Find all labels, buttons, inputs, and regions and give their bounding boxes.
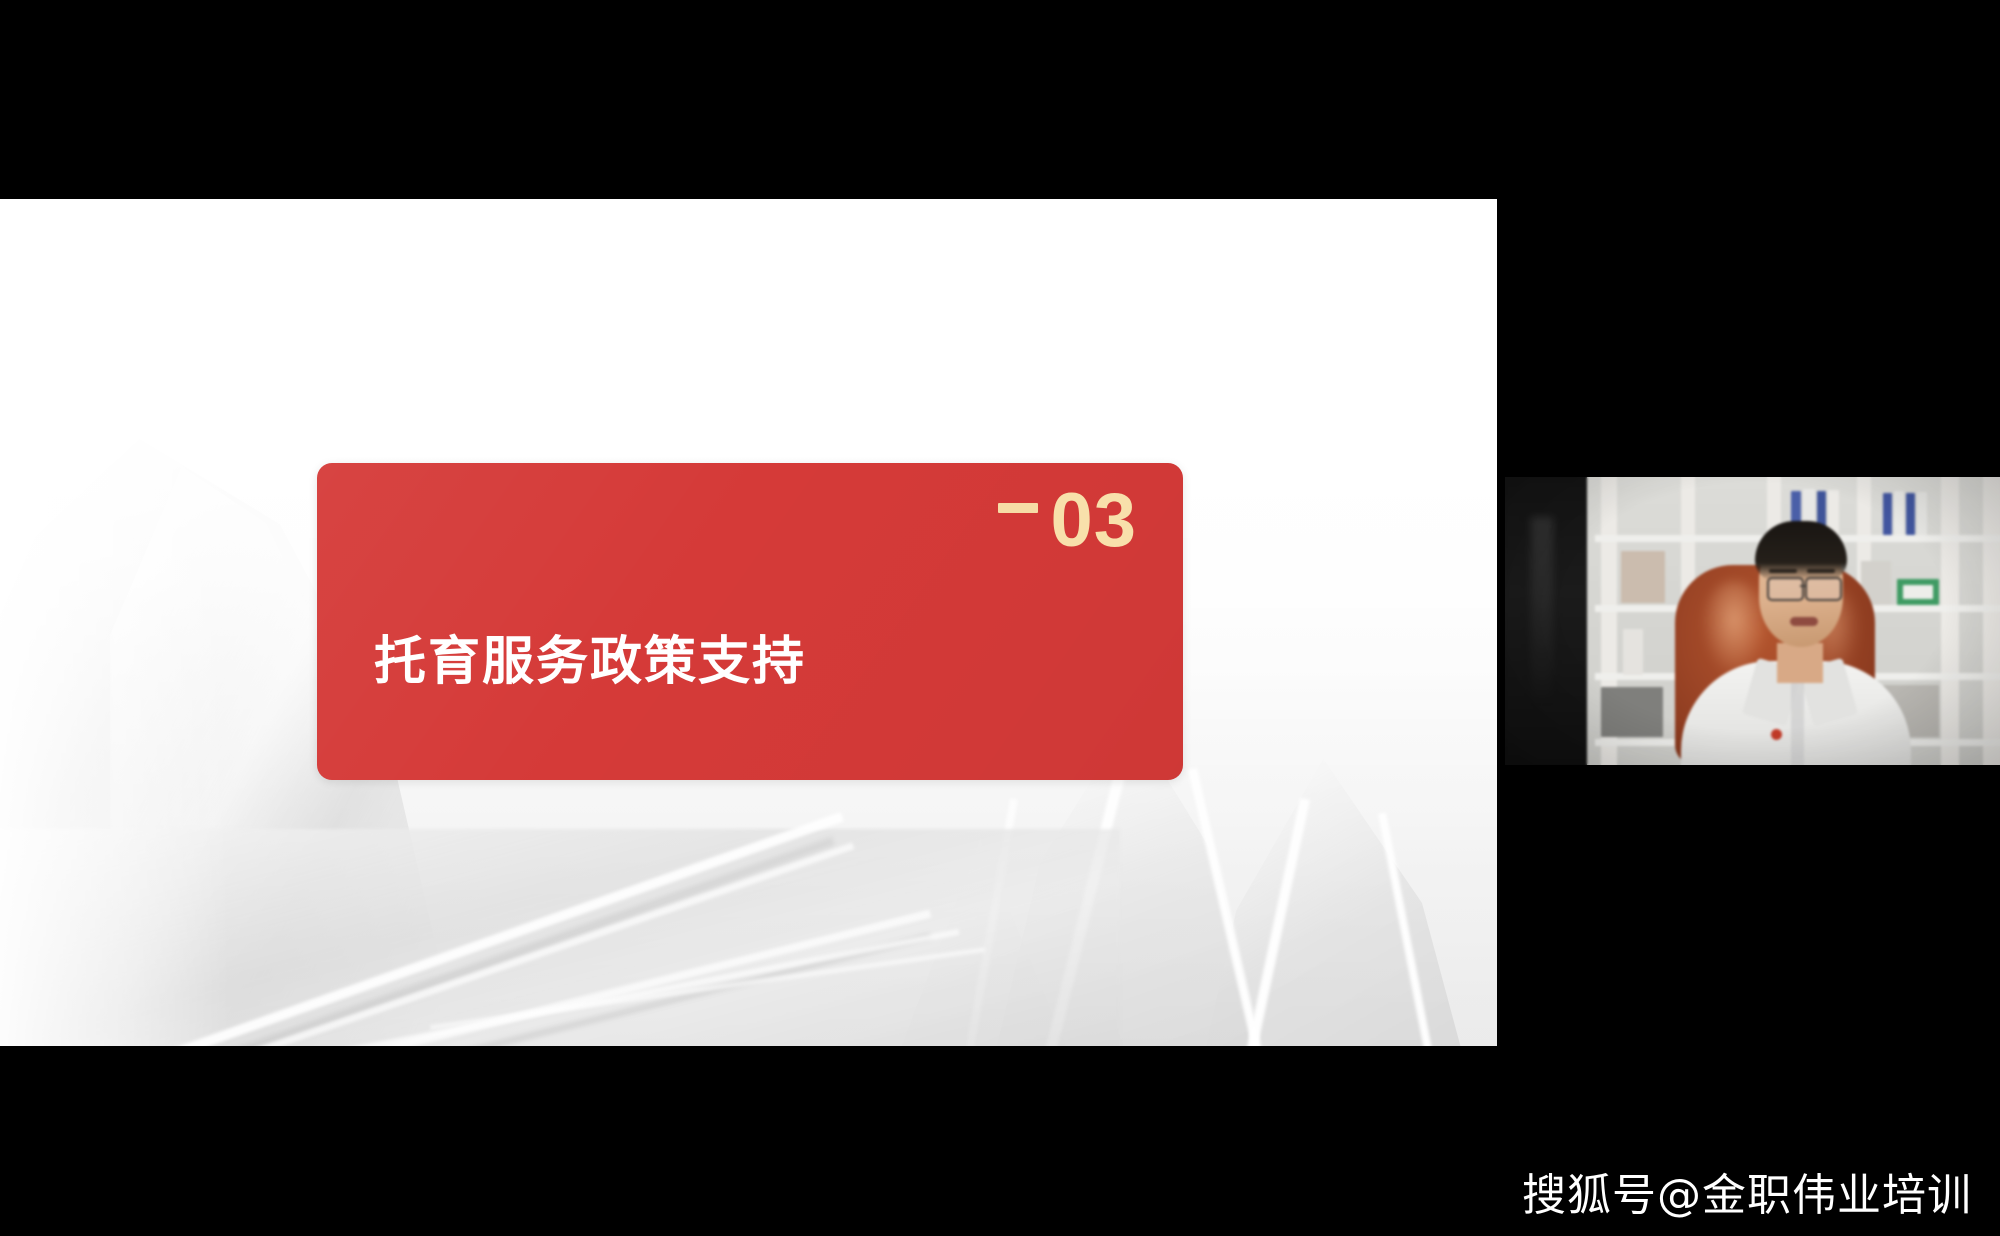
mountain-peak-right-b bbox=[1190, 759, 1480, 1046]
snow-gully bbox=[1244, 798, 1310, 1046]
snow-gully bbox=[1188, 768, 1262, 1046]
dash-icon bbox=[998, 503, 1038, 513]
presentation-slide: 03 托育服务政策支持 bbox=[0, 199, 1497, 1046]
channel-watermark: 搜狐号@金职伟业培训 bbox=[1522, 1174, 1972, 1218]
snow-gully bbox=[1378, 812, 1434, 1046]
section-title-card: 03 托育服务政策支持 bbox=[317, 463, 1183, 780]
snow-gully bbox=[963, 798, 1018, 1046]
background-haze-left bbox=[0, 217, 520, 407]
section-number-group: 03 bbox=[998, 483, 1137, 559]
background-white-wash-left bbox=[0, 199, 230, 1046]
background-haze-right bbox=[520, 199, 1220, 349]
presenter-video-panel[interactable] bbox=[1505, 477, 2000, 765]
glacier-striation bbox=[30, 812, 844, 1046]
section-title: 托育服务政策支持 bbox=[374, 634, 806, 691]
glacier-striation-shadow bbox=[40, 837, 835, 1046]
section-number: 03 bbox=[1050, 483, 1137, 559]
video-vignette bbox=[1505, 477, 2000, 765]
snow-gully bbox=[1046, 758, 1129, 1046]
